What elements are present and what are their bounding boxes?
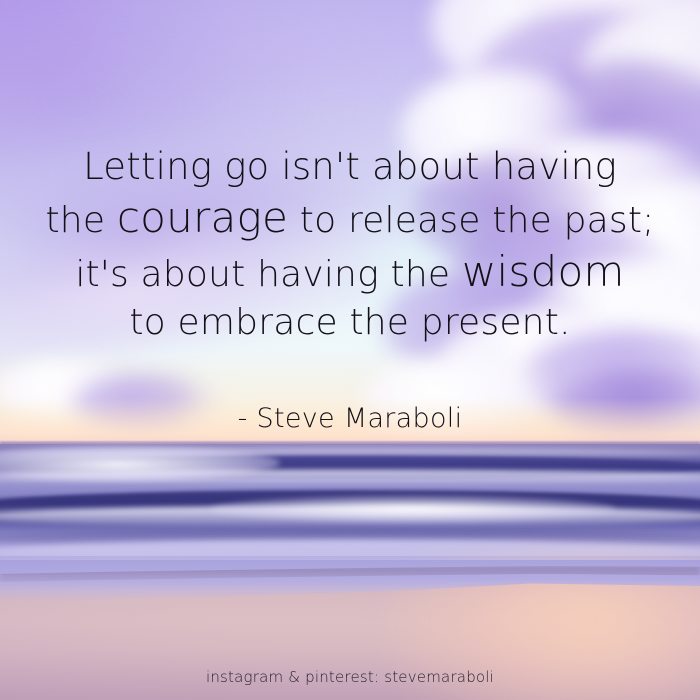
quote-line-2-post: to release the past;	[288, 200, 654, 241]
quote-image: Letting go isn't about having the courag…	[0, 0, 700, 700]
quote-line-2: the courage to release the past;	[0, 197, 700, 240]
quote-line-2-pre: the	[45, 200, 116, 241]
quote-line-1-text: Letting go isn't about having	[83, 145, 617, 188]
quote-line-4: to embrace the present.	[0, 305, 700, 342]
quote-line-1: Letting go isn't about having	[0, 148, 700, 186]
attribution: - Steve Maraboli	[0, 403, 700, 434]
quote-emphasis-wisdom: wisdom	[462, 247, 625, 296]
quote-text: Letting go isn't about having the courag…	[0, 148, 700, 341]
quote-line-3-pre: it's about having the	[75, 254, 462, 295]
quote-line-3: it's about having the wisdom	[0, 251, 700, 294]
quote-line-4-text: to embrace the present.	[129, 302, 570, 343]
social-handle-footer: instagram & pinterest: stevemaraboli	[0, 668, 700, 686]
quote-emphasis-courage: courage	[117, 193, 288, 242]
